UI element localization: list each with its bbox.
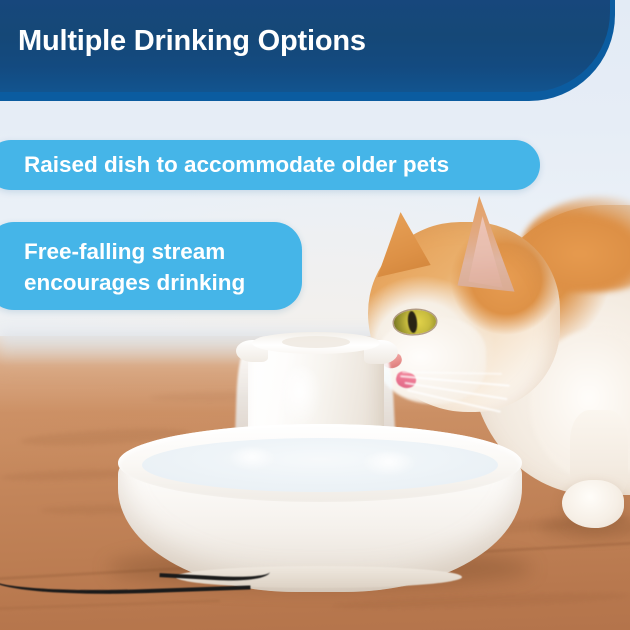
page-title: Multiple Drinking Options: [18, 25, 366, 58]
water-splash-right: [362, 452, 416, 476]
callout-free-falling-stream: Free-falling stream encourages drinking: [0, 222, 302, 310]
callout-raised-dish: Raised dish to accommodate older pets: [0, 140, 540, 190]
fountain-water-surface: [142, 438, 498, 492]
callout-free-falling-stream-label: Free-falling stream encourages drinking: [24, 236, 245, 298]
product-feature-image: Multiple Drinking Options Raised dish to…: [0, 0, 630, 630]
callout-line-1: Free-falling stream: [24, 239, 225, 264]
fountain-spout-highlight: [278, 366, 322, 428]
callout-line-2: encourages drinking: [24, 270, 245, 295]
header-banner: Multiple Drinking Options: [0, 0, 610, 92]
water-splash-left: [228, 448, 276, 470]
callout-raised-dish-label: Raised dish to accommodate older pets: [24, 152, 449, 178]
fountain-spout-opening: [282, 336, 350, 348]
